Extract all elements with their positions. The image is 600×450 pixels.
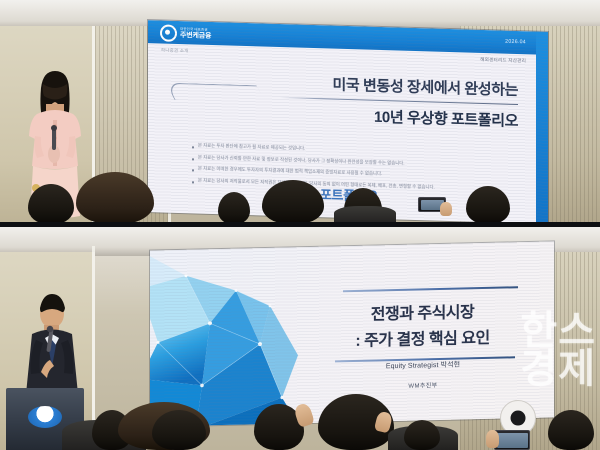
slide-title-block: 미국 변동성 장세에서 완성하는 10년 우상향 포트폴리오 bbox=[218, 70, 518, 131]
audience-phone bbox=[494, 430, 530, 450]
photo-divider bbox=[0, 222, 600, 227]
audience-head bbox=[404, 420, 440, 450]
audience-head bbox=[28, 184, 74, 224]
slide-title-line2: 10년 우상향 포트폴리오 bbox=[218, 101, 518, 131]
slide-date: 2026.04 bbox=[505, 39, 526, 46]
bullet-text: 본 자료는 투자 판단에 참고가 될 자료로 제공되는 것입니다. bbox=[198, 144, 305, 152]
audience-head bbox=[218, 192, 250, 224]
bullet-text: 본 자료는 어떠한 경우에도 투자자의 투자결과에 대한 법적 책임소재의 증빙… bbox=[198, 167, 382, 177]
audience-head bbox=[466, 186, 510, 224]
news-photo-composite: 대한민국 대표증권 주변케금융 2026.04 해외센터리드 자산관리 하나증권… bbox=[0, 0, 600, 450]
slide-title-line2: : 주가 결정 핵심 요인 bbox=[315, 323, 530, 352]
audience-head bbox=[76, 172, 154, 224]
slide-title-line1: 전쟁과 주식시장 bbox=[315, 297, 530, 326]
slide-title-line1: 미국 변동성 장세에서 완성하는 bbox=[218, 70, 518, 100]
circle-mark-icon bbox=[160, 24, 177, 42]
slide-subheader: 해외센터리드 자산관리 bbox=[480, 57, 526, 64]
slide-title-block-bottom: 전쟁과 주식시장 : 주가 결정 핵심 요인 bbox=[315, 286, 530, 363]
brand-logo: 대한민국 대표증권 주변케금융 bbox=[160, 24, 211, 43]
brand-name: 주변케금융 bbox=[180, 32, 211, 40]
slide-department: WM추진부 bbox=[318, 378, 528, 392]
bullet-dot-icon bbox=[192, 146, 194, 148]
microphone-icon bbox=[52, 128, 56, 150]
bullet-dot-icon bbox=[192, 169, 194, 171]
audience-head bbox=[262, 180, 324, 224]
slide-doc-code: 하나증권 소개 bbox=[161, 47, 189, 54]
audience-hand bbox=[440, 202, 452, 216]
audience-head bbox=[548, 410, 594, 450]
audience-row-top bbox=[0, 180, 600, 224]
seminar-photo-top: 대한민국 대표증권 주변케금융 2026.04 해외센터리드 자산관리 하나증권… bbox=[0, 0, 600, 224]
audience-head bbox=[152, 410, 206, 450]
bullet-text: 본 자료는 당사가 신뢰할 만한 자료 및 정보로 작성된 것이나, 당사가 그… bbox=[198, 155, 405, 166]
bullet-dot-icon bbox=[192, 158, 194, 160]
audience-hand bbox=[486, 430, 499, 448]
phone-screen bbox=[497, 433, 528, 448]
title-rule-top bbox=[343, 286, 518, 292]
audience-row-bottom bbox=[0, 392, 600, 450]
seminar-photo-bottom: 전쟁과 주식시장 : 주가 결정 핵심 요인 Equity Strategist… bbox=[0, 226, 600, 450]
